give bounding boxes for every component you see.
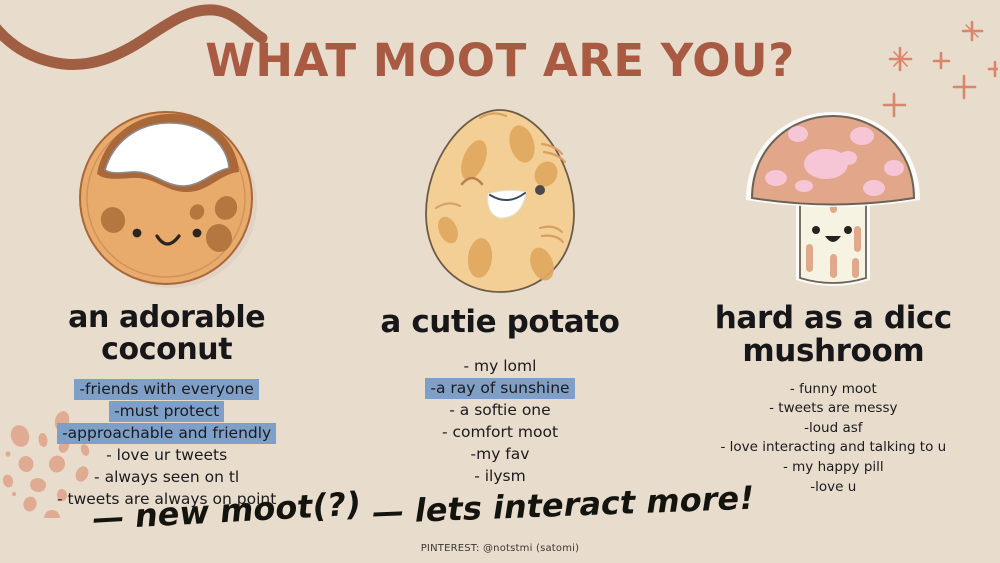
moot-title-potato: a cutie potato [380,306,619,339]
moot-card-coconut: an adorable coconut -friends with everyo… [0,100,333,500]
trait-item: -my fav [425,443,574,465]
trait-item: - my happy pill [715,458,951,478]
moot-title-mushroom: hard as a dicc mushroom [667,302,1000,368]
moot-card-mushroom: hard as a dicc mushroom - funny moot - t… [667,100,1000,500]
trait-item: - love ur tweets [52,444,281,466]
moot-card-potato: a cutie potato - my loml -a ray of sunsh… [333,100,666,500]
trait-item: -must protect [52,400,281,422]
coconut-illustration [69,100,265,296]
trait-item: -friends with everyone [52,378,281,400]
trait-item: - love interacting and talking to u [715,438,951,458]
mushroom-illustration [738,100,928,300]
trait-item: - a softie one [425,399,574,421]
trait-list-potato: - my loml -a ray of sunshine - a softie … [425,355,574,487]
trait-item: - always seen on tl [52,466,281,488]
moot-title-coconut: an adorable coconut [0,302,333,366]
trait-item: -approachable and friendly [52,422,281,444]
page-title: WHAT MOOT ARE YOU? [0,34,1000,87]
trait-item: - my loml [425,355,574,377]
trait-item: - ilysm [425,465,574,487]
trait-item: - funny moot [715,380,951,400]
potato-illustration [410,100,590,300]
trait-item: - comfort moot [425,421,574,443]
pinterest-credit: PINTEREST: @notstmi (satomi) [0,543,1000,554]
moot-columns: an adorable coconut -friends with everyo… [0,100,1000,500]
trait-item: -a ray of sunshine [425,377,574,399]
trait-item: - tweets are messy [715,399,951,419]
poster-canvas: WHAT MOOT ARE YOU? [0,0,1000,563]
trait-item: -loud asf [715,419,951,439]
